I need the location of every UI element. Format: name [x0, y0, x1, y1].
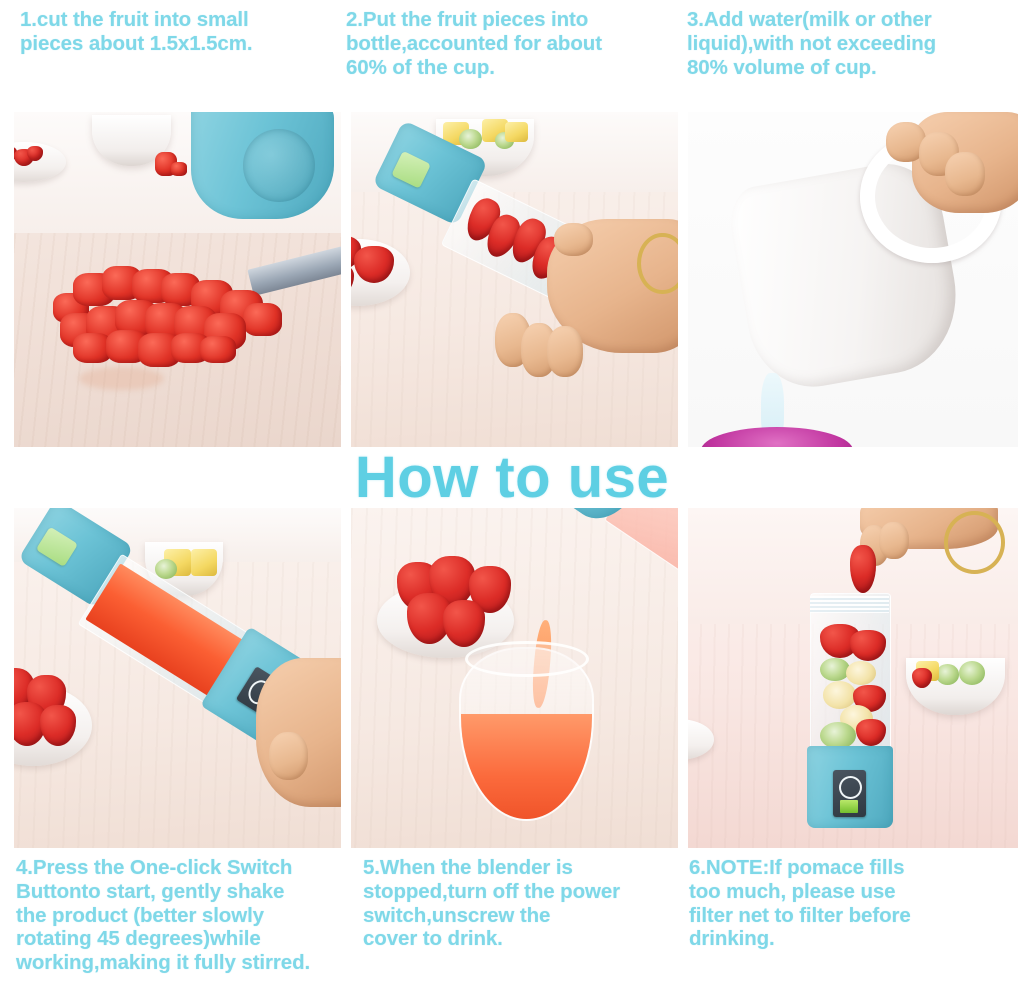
caption-row-bottom: 4.Press the One-click Switch Buttonto st… — [0, 856, 1024, 981]
step-photo-6 — [688, 508, 1018, 848]
power-button-icon — [839, 776, 862, 799]
battery-indicator-icon — [840, 800, 857, 812]
step-caption-3: 3.Add water(milk or other liquid),with n… — [675, 6, 1024, 102]
step-caption-2: 2.Put the fruit pieces into bottle,accou… — [337, 6, 675, 102]
step-photo-1 — [14, 112, 341, 447]
bracelet — [637, 233, 678, 295]
step-photo-3 — [688, 112, 1018, 447]
pressing-finger — [269, 732, 308, 780]
blender-jar — [604, 508, 678, 570]
step-photo-4 — [14, 508, 341, 848]
step-caption-6: 6.NOTE:If pomace fills too much, please … — [675, 856, 1024, 981]
step-photo-2 — [351, 112, 678, 447]
step-photo-5 — [351, 508, 678, 848]
control-panel — [833, 770, 866, 818]
jar-rim — [465, 641, 589, 678]
bracelet — [944, 511, 1005, 573]
caption-row-top: 1.cut the fruit into small pieces about … — [0, 6, 1024, 102]
infographic-sheet: 1.cut the fruit into small pieces about … — [0, 0, 1024, 985]
page-title: How to use — [0, 449, 1024, 507]
cup-lid — [701, 427, 853, 447]
step-caption-5: 5.When the blender is stopped,turn off t… — [355, 856, 675, 981]
jar-threads — [810, 596, 889, 613]
step-caption-1: 1.cut the fruit into small pieces about … — [0, 6, 337, 102]
step-caption-4: 4.Press the One-click Switch Buttonto st… — [0, 856, 355, 981]
